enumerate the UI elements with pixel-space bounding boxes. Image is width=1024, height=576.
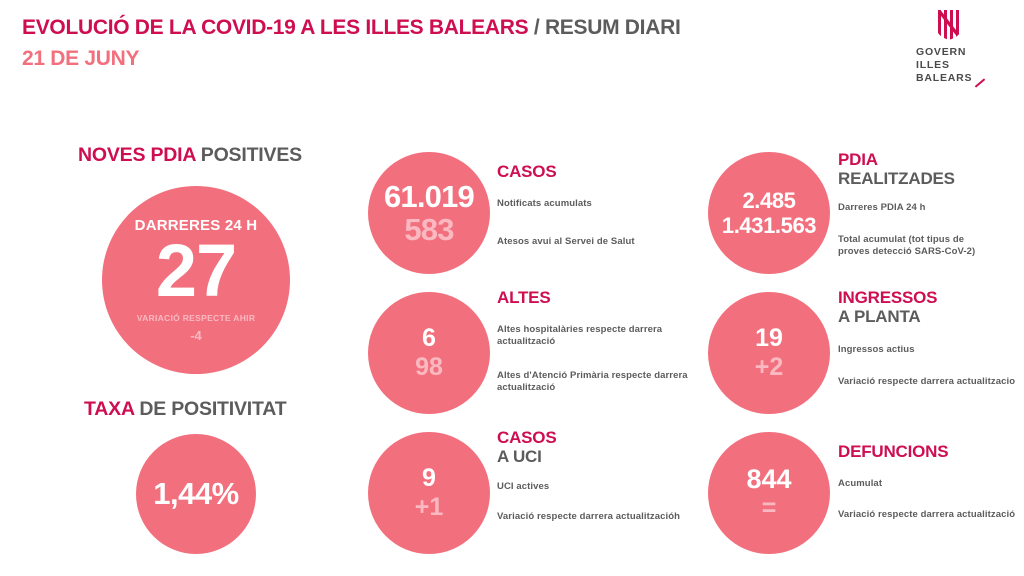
uci-caption-secondary: Variació respecte darrera actualitzacióh: [497, 511, 697, 523]
heading-noves-pdia-rest: POSITIVES: [196, 144, 302, 166]
casos-primary-value: 61.019: [384, 181, 474, 212]
circle-casos-uci: 9 +1: [368, 432, 490, 554]
circle-defuncions: 844 =: [708, 432, 830, 554]
circle-casos: 61.019 583: [368, 152, 490, 274]
heading-altes: ALTES: [497, 288, 550, 307]
heading-pdia-realitzades: PDIA REALITZADES: [838, 150, 955, 188]
page-header: EVOLUCIÓ DE LA COVID-19 A LES ILLES BALE…: [0, 0, 1024, 110]
altes-caption-primary: Altes hospitalàries respecte darrera act…: [497, 324, 697, 347]
logo-line-2: ILLES: [916, 59, 994, 72]
heading-ingressos-rest: A PLANTA: [838, 307, 937, 326]
heading-taxa-highlight: TAXA: [84, 398, 134, 420]
pdia-caption-secondary: Total acumulat (tot tipus de proves dete…: [838, 234, 998, 257]
circle-taxa-positivitat: 1,44%: [136, 434, 256, 554]
pdia-secondary-value: 1.431.563: [722, 215, 816, 237]
casos-caption-primary: Notificats acumulats: [497, 198, 687, 210]
defuncions-caption-secondary: Variació respecte darrera actualització: [838, 509, 1018, 521]
circle-altes: 6 98: [368, 292, 490, 414]
heading-defuncions-highlight: DEFUNCIONS: [838, 442, 948, 461]
logo-line-1: GOVERN: [916, 46, 994, 59]
heading-casos-uci: CASOS A UCI: [497, 428, 556, 466]
heading-uci-highlight: CASOS: [497, 428, 556, 447]
balearic-shield-icon: [937, 10, 961, 40]
noves-pdia-value: 27: [156, 236, 236, 306]
taxa-positivitat-value: 1,44%: [153, 476, 238, 512]
circle-pdia-realitzades: 2.485 1.431.563: [708, 152, 830, 274]
pdia-primary-value: 2.485: [742, 190, 795, 212]
heading-taxa-rest: DE POSITIVITAT: [134, 398, 286, 420]
pdia-caption-primary: Darreres PDIA 24 h: [838, 202, 1018, 214]
page-title-main: EVOLUCIÓ DE LA COVID-19 A LES ILLES BALE…: [22, 16, 528, 39]
uci-secondary-value: +1: [415, 495, 444, 520]
circle-noves-pdia-positives: DARRERES 24 H 27 VARIACIÓ RESPECTE AHIR …: [102, 186, 290, 374]
uci-caption-primary: UCI actives: [497, 481, 697, 493]
logo-wordmark: GOVERN ILLES BALEARS: [904, 46, 994, 85]
casos-secondary-value: 583: [404, 214, 453, 245]
govern-illes-balears-logo: GOVERN ILLES BALEARS: [904, 10, 994, 85]
ingressos-caption-primary: Ingressos actius: [838, 344, 1018, 356]
page-title: EVOLUCIÓ DE LA COVID-19 A LES ILLES BALE…: [22, 16, 680, 40]
heading-uci-rest: A UCI: [497, 447, 556, 466]
noves-pdia-variation-label: VARIACIÓ RESPECTE AHIR: [137, 313, 256, 323]
defuncions-caption-primary: Acumulat: [838, 478, 1018, 490]
heading-altes-highlight: ALTES: [497, 288, 550, 307]
heading-taxa-positivitat: TAXA DE POSITIVITAT: [84, 400, 286, 419]
heading-ingressos-highlight: INGRESSOS: [838, 288, 937, 307]
heading-defuncions: DEFUNCIONS: [838, 442, 948, 461]
altes-primary-value: 6: [422, 326, 436, 351]
page-title-separator: /: [528, 16, 545, 39]
heading-noves-pdia-highlight: NOVES PDIA: [78, 144, 196, 166]
altes-caption-secondary: Altes d'Atenció Primària respecte darrer…: [497, 370, 697, 393]
report-date: 21 DE JUNY: [22, 47, 139, 71]
page-title-sub: RESUM DIARI: [545, 16, 681, 39]
ingressos-secondary-value: +2: [755, 355, 784, 380]
altes-secondary-value: 98: [415, 355, 443, 380]
defuncions-secondary-value: =: [762, 496, 777, 521]
heading-pdia-highlight: PDIA: [838, 150, 955, 169]
heading-casos-highlight: CASOS: [497, 162, 556, 181]
noves-pdia-variation-value: -4: [190, 328, 202, 343]
casos-caption-secondary: Atesos avui al Servei de Salut: [497, 236, 687, 248]
ingressos-caption-secondary: Variació respecte darrera actualitzacio: [838, 376, 1018, 388]
heading-pdia-rest: REALITZADES: [838, 169, 955, 188]
heading-ingressos-planta: INGRESSOS A PLANTA: [838, 288, 937, 326]
heading-noves-pdia-positives: NOVES PDIA POSITIVES: [78, 146, 302, 165]
circle-ingressos-planta: 19 +2: [708, 292, 830, 414]
heading-casos: CASOS: [497, 162, 556, 181]
ingressos-primary-value: 19: [755, 326, 783, 351]
uci-primary-value: 9: [422, 466, 436, 491]
defuncions-primary-value: 844: [746, 466, 791, 493]
